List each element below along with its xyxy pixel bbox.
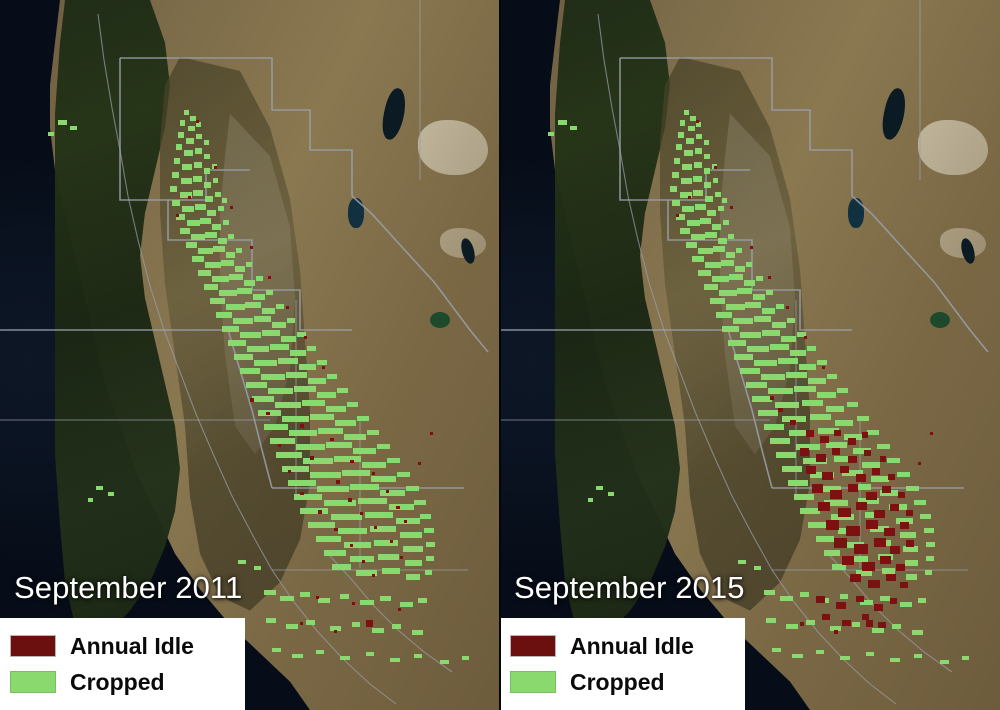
legend-2015: Annual Idle Cropped (500, 618, 745, 710)
legend-item-cropped: Cropped (510, 664, 745, 700)
legend-item-annual-idle: Annual Idle (10, 628, 245, 664)
panel-title-2015: September 2015 (514, 572, 745, 603)
legend-label-cropped: Cropped (70, 671, 165, 694)
panel-divider (499, 0, 501, 710)
legend-label-cropped: Cropped (570, 671, 665, 694)
legend-swatch-annual-idle (510, 635, 556, 657)
legend-label-annual-idle: Annual Idle (570, 635, 694, 658)
map-panel-2015: September 2015 Annual Idle Cropped (500, 0, 1000, 710)
legend-item-annual-idle: Annual Idle (510, 628, 745, 664)
legend-swatch-cropped (510, 671, 556, 693)
legend-swatch-cropped (10, 671, 56, 693)
legend-item-cropped: Cropped (10, 664, 245, 700)
panel-title-2011: September 2011 (14, 572, 242, 603)
figure-root: September 2011 Annual Idle Cropped (0, 0, 1000, 710)
legend-label-annual-idle: Annual Idle (70, 635, 194, 658)
legend-2011: Annual Idle Cropped (0, 618, 245, 710)
legend-swatch-annual-idle (10, 635, 56, 657)
map-panel-2011: September 2011 Annual Idle Cropped (0, 0, 500, 710)
